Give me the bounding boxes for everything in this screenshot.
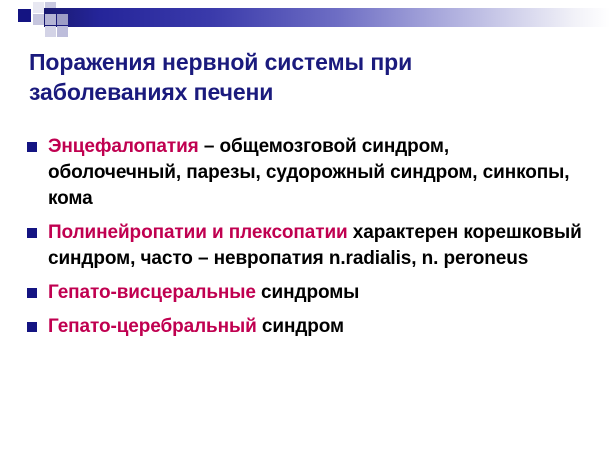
slide-title-line-2: заболеваниях печени [29,77,549,107]
decorative-square-pale-b [45,2,56,8]
decorative-square-mid-a [33,14,44,25]
decorative-square-mid-c [57,14,68,25]
bullet-square-icon [27,142,37,152]
bullet-text: Полинейропатии и плексопатии характерен … [48,220,587,272]
bullet-list: Энцефалопатия – общемозговой синдром, об… [27,134,587,348]
header-gradient-bar [44,8,610,27]
bullet-lead-term: Энцефалопатия [48,136,199,157]
decorative-square-mid-b [45,14,56,25]
decorative-square-navy [18,9,31,22]
slide-title: Поражения нервной системы при заболевани… [29,47,549,107]
bullet-text: Энцефалопатия – общемозговой синдром, об… [48,134,587,212]
decorative-square-low-b [57,26,68,37]
bullet-square-icon [27,288,37,298]
bullet-text: Гепато-висцеральные синдромы [48,280,587,306]
slide-title-line-1: Поражения нервной системы при [29,47,549,77]
bullet-lead-term: Гепато-церебральный [48,316,257,337]
header-decoration [0,0,610,42]
decorative-square-pale-a [33,2,44,13]
bullet-item: Полинейропатии и плексопатии характерен … [27,220,587,272]
bullet-item: Энцефалопатия – общемозговой синдром, об… [27,134,587,212]
bullet-lead-term: Полинейропатии и плексопатии [48,222,348,243]
bullet-square-icon [27,322,37,332]
bullet-item: Гепато-церебральный синдром [27,314,587,340]
bullet-lead-term: Гепато-висцеральные [48,282,256,303]
bullet-body-text: синдром [257,316,344,337]
bullet-body-text: синдромы [256,282,359,303]
decorative-square-low-a [45,26,56,37]
bullet-text: Гепато-церебральный синдром [48,314,587,340]
bullet-item: Гепато-висцеральные синдромы [27,280,587,306]
bullet-square-icon [27,228,37,238]
